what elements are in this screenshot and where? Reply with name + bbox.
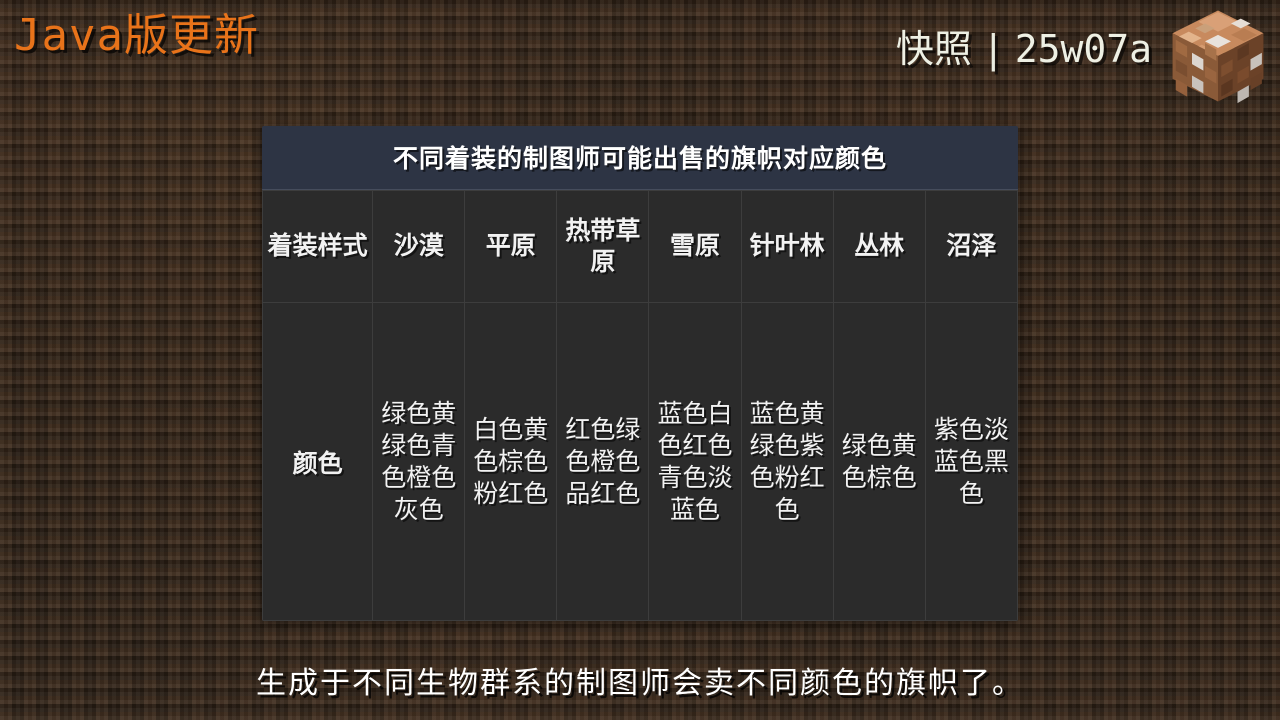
banner-color-table: 不同着装的制图师可能出售的旗帜对应颜色 着装样式 沙漠 平原 热带草原 雪原 针… [262, 126, 1018, 621]
column-header-taiga: 针叶林 [741, 191, 833, 303]
table-title: 不同着装的制图师可能出售的旗帜对应颜色 [262, 126, 1018, 190]
cell-savanna-colors: 红色绿色橙色品红色 [557, 303, 649, 621]
column-header-swamp: 沼泽 [925, 191, 1017, 303]
cell-jungle-colors: 绿色黄色棕色 [833, 303, 925, 621]
snapshot-version: 25w07a [1015, 30, 1152, 68]
table-grid: 着装样式 沙漠 平原 热带草原 雪原 针叶林 丛林 沼泽 颜色 绿色黄绿色青色橙… [262, 190, 1018, 621]
table-row: 颜色 绿色黄绿色青色橙色灰色 白色黄色棕色粉红色 红色绿色橙色品红色 蓝色白色红… [263, 303, 1018, 621]
snapshot-separator: | [982, 30, 1005, 68]
column-header-desert: 沙漠 [373, 191, 465, 303]
column-header-snowy: 雪原 [649, 191, 741, 303]
screen-root: Java版更新 快照 | 25w07a [0, 0, 1280, 720]
cell-snowy-colors: 蓝色白色红色青色淡蓝色 [649, 303, 741, 621]
column-header-plains: 平原 [465, 191, 557, 303]
column-header-savanna: 热带草原 [557, 191, 649, 303]
cell-taiga-colors: 蓝色黄绿色紫色粉红色 [741, 303, 833, 621]
snapshot-badge: 快照 | 25w07a [896, 30, 1152, 68]
table-header-row: 着装样式 沙漠 平原 热带草原 雪原 针叶林 丛林 沼泽 [263, 191, 1018, 303]
cell-plains-colors: 白色黄色棕色粉红色 [465, 303, 557, 621]
cell-swamp-colors: 紫色淡蓝色黑色 [925, 303, 1017, 621]
subtitle-caption: 生成于不同生物群系的制图师会卖不同颜色的旗帜了。 [0, 666, 1280, 702]
column-header-jungle: 丛林 [833, 191, 925, 303]
column-header-style: 着装样式 [263, 191, 373, 303]
page-title: Java版更新 [14, 14, 259, 58]
cell-desert-colors: 绿色黄绿色青色橙色灰色 [373, 303, 465, 621]
snapshot-label: 快照 [896, 30, 972, 68]
minecraft-block-icon [1166, 4, 1270, 108]
row-label-color: 颜色 [263, 303, 373, 621]
